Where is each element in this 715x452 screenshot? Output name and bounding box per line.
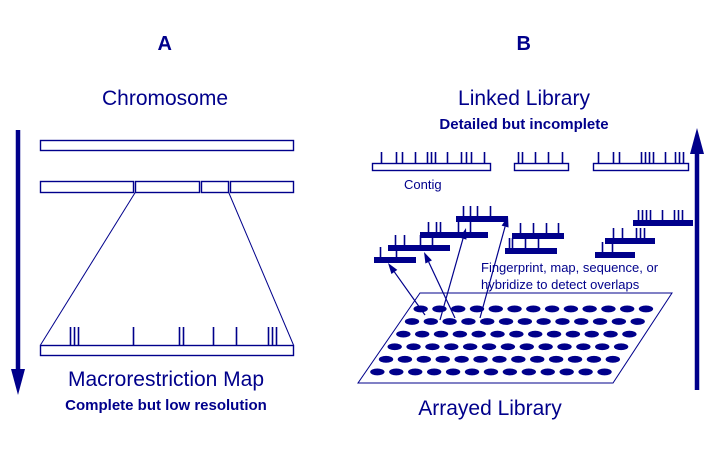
clone-stack-left-clone-2-bar xyxy=(420,232,488,238)
arrayed-library-dot xyxy=(585,331,599,338)
arrayed-library-dot xyxy=(489,306,503,313)
method-note-line-1: Fingerprint, map, sequence, or xyxy=(481,260,658,275)
panel-b-letter: B xyxy=(517,33,532,56)
arrayed-library-dot xyxy=(463,343,477,350)
clone-pick-arrow-1-head xyxy=(388,263,397,274)
panel-b-upward-progress-arrow-head xyxy=(690,128,704,154)
chromosome-fragment-3 xyxy=(202,182,229,193)
arrayed-library-dot xyxy=(518,318,532,325)
arrayed-library-dot xyxy=(601,306,615,313)
arrayed-library-dot xyxy=(501,343,515,350)
contig-2-bar xyxy=(515,164,569,171)
arrayed-library-dot xyxy=(522,369,536,376)
chromosome-fragment-4 xyxy=(231,182,294,193)
arrayed-library-dot xyxy=(461,318,475,325)
arrayed-library-dot xyxy=(492,356,506,363)
arrayed-library-dot xyxy=(639,306,653,313)
contig-3-bar xyxy=(594,164,689,171)
arrayed-library-dot xyxy=(424,318,438,325)
arrayed-library-dot xyxy=(538,343,552,350)
arrayed-library-dot xyxy=(398,356,412,363)
arrayed-library-dot xyxy=(484,369,498,376)
arrayed-library-dot xyxy=(473,356,487,363)
arrayed-library-title: Arrayed Library xyxy=(418,397,562,421)
arrayed-library-dot xyxy=(465,369,479,376)
clone-stack-right-clone-3-bar xyxy=(595,252,635,258)
arrayed-library-dot xyxy=(436,356,450,363)
arrayed-library-dot xyxy=(545,306,559,313)
arrayed-library-dot xyxy=(482,343,496,350)
chromosome-fragment-2 xyxy=(136,182,200,193)
arrayed-library-dot xyxy=(405,318,419,325)
arrayed-library-dot xyxy=(480,318,494,325)
arrayed-library-dot xyxy=(427,369,441,376)
arrayed-library-dot xyxy=(507,306,521,313)
arrayed-library-dot xyxy=(614,343,628,350)
panel-b-title: Linked Library xyxy=(458,87,590,111)
clone-stack-left-clone-1-bar xyxy=(456,216,508,222)
arrayed-library-dot xyxy=(566,331,580,338)
arrayed-library-dot xyxy=(503,369,517,376)
arrayed-library-dot xyxy=(425,343,439,350)
arrayed-library-dot xyxy=(603,331,617,338)
arrayed-library-dot xyxy=(622,331,636,338)
arrayed-library-dot xyxy=(630,318,644,325)
arrayed-library-dot xyxy=(578,369,592,376)
arrayed-library-dot xyxy=(499,318,513,325)
arrayed-library-dot xyxy=(536,318,550,325)
arrayed-library-dot xyxy=(453,331,467,338)
clone-stack-left-clone-4-bar xyxy=(374,257,416,263)
clone-stack-middle-clone-2-bar xyxy=(505,248,557,254)
chromosome-fragment-1 xyxy=(41,182,134,193)
arrayed-library-dot xyxy=(509,331,523,338)
macrorestriction-map-bar xyxy=(41,346,294,356)
arrayed-library-dot xyxy=(406,343,420,350)
arrayed-library-dot xyxy=(587,356,601,363)
arrayed-library-dot xyxy=(454,356,468,363)
arrayed-library-dot xyxy=(408,369,422,376)
arrayed-library-dot xyxy=(415,331,429,338)
macrorestriction-map-subtitle: Complete but low resolution xyxy=(65,397,267,414)
arrayed-library-dot xyxy=(541,369,555,376)
arrayed-library-dot xyxy=(557,343,571,350)
arrayed-library-dot xyxy=(547,331,561,338)
arrayed-library-dot xyxy=(490,331,504,338)
panel-a-title: Chromosome xyxy=(102,87,228,111)
arrayed-library-dot xyxy=(549,356,563,363)
arrayed-library-dot xyxy=(446,369,460,376)
arrayed-library-dot xyxy=(597,369,611,376)
arrayed-library-dot xyxy=(451,306,465,313)
arrayed-library-dot xyxy=(444,343,458,350)
panel-a-letter: A xyxy=(158,33,173,56)
arrayed-library-dot xyxy=(432,306,446,313)
clone-pick-arrow-2-head xyxy=(424,252,432,263)
trapezoid-right-edge xyxy=(229,192,294,345)
arrayed-library-dot xyxy=(593,318,607,325)
panel-b-subtitle: Detailed but incomplete xyxy=(439,116,608,133)
arrayed-library-dot xyxy=(526,306,540,313)
arrayed-library-dot xyxy=(520,343,534,350)
arrayed-library-dot xyxy=(387,343,401,350)
macrorestriction-map-title: Macrorestriction Map xyxy=(68,368,264,392)
arrayed-library-dot xyxy=(417,356,431,363)
panel-a-downward-progress-arrow-head xyxy=(11,369,25,395)
arrayed-library-dot xyxy=(564,306,578,313)
clone-stack-right-clone-1-bar xyxy=(633,220,693,226)
arrayed-library-dot xyxy=(528,331,542,338)
arrayed-library-dot xyxy=(389,369,403,376)
contig-label: Contig xyxy=(404,177,442,192)
arrayed-library-dot xyxy=(511,356,525,363)
arrayed-library-dot xyxy=(612,318,626,325)
arrayed-library-dot xyxy=(576,343,590,350)
arrayed-library-dot xyxy=(582,306,596,313)
arrayed-library-dot xyxy=(568,356,582,363)
chromosome-bar xyxy=(41,141,294,151)
method-note-line-2: hybridize to detect overlaps xyxy=(481,277,639,292)
arrayed-library-dot xyxy=(471,331,485,338)
arrayed-library-dot xyxy=(434,331,448,338)
arrayed-library-dot xyxy=(530,356,544,363)
trapezoid-left-edge xyxy=(41,192,136,345)
arrayed-library-dot xyxy=(379,356,393,363)
genome-mapping-figure: A Chromosome Macrorestriction Map Comple… xyxy=(0,0,715,452)
contig-1-bar xyxy=(373,164,491,171)
arrayed-library-dot xyxy=(370,369,384,376)
arrayed-library-dot xyxy=(595,343,609,350)
arrayed-library-dot xyxy=(442,318,456,325)
arrayed-library-dot xyxy=(620,306,634,313)
arrayed-library-dot xyxy=(555,318,569,325)
arrayed-library-dot xyxy=(606,356,620,363)
arrayed-library-dot xyxy=(574,318,588,325)
arrayed-library-dot xyxy=(559,369,573,376)
arrayed-library-dot xyxy=(396,331,410,338)
